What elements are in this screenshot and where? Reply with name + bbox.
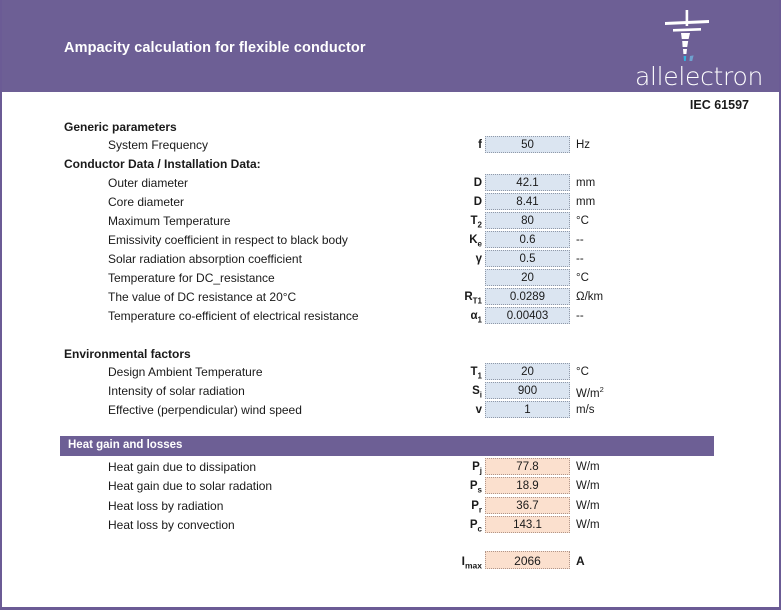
row-label: Emissivity coefficient in respect to bla… xyxy=(108,233,348,247)
row-value-input[interactable]: 18.9 xyxy=(485,477,570,494)
row-unit: W/m xyxy=(576,500,600,512)
row-label: The value of DC resistance at 20°C xyxy=(108,290,296,304)
section-bar-label: Heat gain and losses xyxy=(68,439,182,451)
row-symbol: α1 xyxy=(422,310,482,324)
row-value-input[interactable]: 900 xyxy=(485,382,570,399)
row-value-input[interactable]: 8.41 xyxy=(485,193,570,210)
standard-label: IEC 61597 xyxy=(690,98,749,112)
row-symbol: D xyxy=(422,177,482,189)
row-label: Core diameter xyxy=(108,195,184,209)
row-value-input[interactable]: 42.1 xyxy=(485,174,570,191)
row-unit: Hz xyxy=(576,139,590,151)
row-unit: °C xyxy=(576,272,589,284)
row-value-input[interactable]: 36.7 xyxy=(485,497,570,514)
result-symbol: Imax xyxy=(422,554,482,570)
row-value-input[interactable]: 0.00403 xyxy=(485,307,570,324)
row-symbol: T2 xyxy=(422,215,482,229)
row-label: Design Ambient Temperature xyxy=(108,365,263,379)
row-label: Temperature for DC_resistance xyxy=(108,271,275,285)
result-value[interactable]: 2066 xyxy=(485,551,570,569)
row-unit: -- xyxy=(576,253,584,265)
row-symbol: T1 xyxy=(422,366,482,380)
row-symbol: Ps xyxy=(422,480,482,494)
row-label: Heat loss by radiation xyxy=(108,499,223,513)
row-symbol: Si xyxy=(422,385,482,399)
row-symbol: Pr xyxy=(422,500,482,514)
row-value-input[interactable]: 20 xyxy=(485,363,570,380)
row-symbol: Pc xyxy=(422,519,482,533)
row-label: Temperature co-efficient of electrical r… xyxy=(108,309,359,323)
row-value-input[interactable]: 143.1 xyxy=(485,516,570,533)
row-value-input[interactable]: 77.8 xyxy=(485,458,570,475)
row-unit: °C xyxy=(576,215,589,227)
row-unit: -- xyxy=(576,234,584,246)
row-symbol: D xyxy=(422,196,482,208)
row-value-input[interactable]: 0.5 xyxy=(485,250,570,267)
row-unit: °C xyxy=(576,366,589,378)
row-label: Heat gain due to solar radation xyxy=(108,479,272,493)
header-band: Ampacity calculation for flexible conduc… xyxy=(2,0,781,92)
row-symbol: v xyxy=(422,404,482,416)
row-label: Heat loss by convection xyxy=(108,518,235,532)
row-value-input[interactable]: 20 xyxy=(485,269,570,286)
result-unit: A xyxy=(576,554,585,568)
brand-wordmark: allelectron xyxy=(635,64,763,89)
worksheet-page: Ampacity calculation for flexible conduc… xyxy=(0,0,781,610)
row-unit: W/m2 xyxy=(576,385,604,400)
row-unit: m/s xyxy=(576,404,595,416)
row-symbol: γ xyxy=(422,253,482,265)
row-symbol: Pj xyxy=(422,461,482,475)
row-unit: W/m xyxy=(576,461,600,473)
row-symbol: Ke xyxy=(422,234,482,248)
row-value-input[interactable]: 0.0289 xyxy=(485,288,570,305)
row-unit: W/m xyxy=(576,519,600,531)
row-label: System Frequency xyxy=(108,138,208,152)
group-title-generic: Generic parameters xyxy=(64,120,177,134)
row-unit: mm xyxy=(576,196,595,208)
row-value-input[interactable]: 1 xyxy=(485,401,570,418)
row-label: Maximum Temperature xyxy=(108,214,230,228)
row-value-input[interactable]: 80 xyxy=(485,212,570,229)
group-title-conductor: Conductor Data / Installation Data: xyxy=(64,157,261,171)
row-unit: mm xyxy=(576,177,595,189)
section-bar-heat: Heat gain and losses xyxy=(60,436,714,456)
row-value-input[interactable]: 0.6 xyxy=(485,231,570,248)
row-label: Effective (perpendicular) wind speed xyxy=(108,403,302,417)
row-label: Outer diameter xyxy=(108,176,188,190)
brand-logo: allelectron xyxy=(607,6,767,90)
row-label: Heat gain due to dissipation xyxy=(108,460,256,474)
row-label: Solar radiation absorption coefficient xyxy=(108,252,302,266)
row-unit: W/m xyxy=(576,480,600,492)
page-title: Ampacity calculation for flexible conduc… xyxy=(64,40,366,56)
row-value-input[interactable]: 50 xyxy=(485,136,570,153)
row-unit: -- xyxy=(576,310,584,322)
row-symbol: RT1 xyxy=(422,291,482,305)
row-unit: Ω/km xyxy=(576,291,603,303)
row-symbol: f xyxy=(422,139,482,151)
group-title-environmental: Environmental factors xyxy=(64,347,191,361)
row-label: Intensity of solar radiation xyxy=(108,384,245,398)
